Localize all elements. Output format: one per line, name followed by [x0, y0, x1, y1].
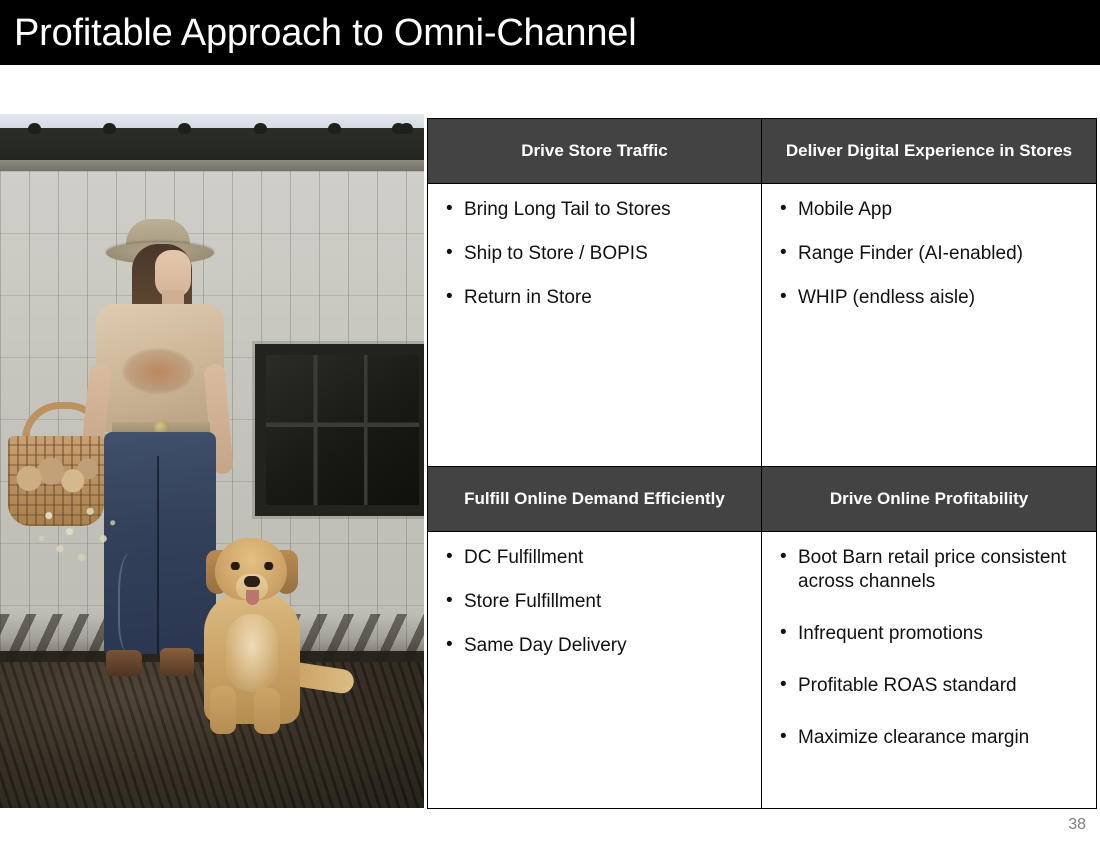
list-item: Same Day Delivery	[442, 634, 749, 658]
photo-dog-chest	[226, 614, 278, 692]
list-item: Ship to Store / BOPIS	[442, 242, 749, 266]
quadrant-header-text: Deliver Digital Experience in Stores	[786, 141, 1072, 162]
photo-dog-nose	[244, 576, 260, 587]
quadrant-body-fulfill-online-demand: DC Fulfillment Store Fulfillment Same Da…	[428, 532, 762, 808]
list-item: Store Fulfillment	[442, 590, 749, 614]
quadrant-header-deliver-digital-experience: Deliver Digital Experience in Stores	[762, 119, 1096, 184]
omni-channel-matrix: Drive Store Traffic Deliver Digital Expe…	[427, 118, 1097, 809]
quadrant-header-text: Drive Store Traffic	[521, 141, 667, 162]
list-item: Range Finder (AI-enabled)	[776, 242, 1084, 266]
quadrant-header-drive-store-traffic: Drive Store Traffic	[428, 119, 762, 184]
slide-photo	[0, 114, 424, 808]
photo-boot-right	[160, 648, 194, 676]
quadrant-header-text: Drive Online Profitability	[830, 489, 1028, 510]
bullet-list: DC Fulfillment Store Fulfillment Same Da…	[442, 546, 749, 658]
quadrant-header-text: Fulfill Online Demand Efficiently	[464, 489, 725, 510]
photo-dog-leg-right	[254, 688, 280, 734]
photo-roof-edge	[0, 128, 424, 162]
slide-title-bar: Profitable Approach to Omni-Channel	[0, 0, 1100, 65]
slide-number: 38	[1068, 816, 1086, 834]
photo-dog-leg-left	[210, 686, 236, 734]
quadrant-body-drive-online-profitability: Boot Barn retail price consistent across…	[762, 532, 1096, 808]
bullet-list: Boot Barn retail price consistent across…	[776, 546, 1084, 750]
photo-boot-left	[106, 650, 142, 676]
list-item: DC Fulfillment	[442, 546, 749, 570]
photo-window	[255, 344, 424, 516]
quadrant-body-deliver-digital-experience: Mobile App Range Finder (AI-enabled) WHI…	[762, 184, 1096, 467]
list-item: Infrequent promotions	[776, 622, 1084, 646]
list-item: Maximize clearance margin	[776, 726, 1084, 750]
photo-basket-contents	[14, 452, 98, 500]
photo-dog-tongue	[246, 590, 259, 605]
quadrant-header-fulfill-online-demand: Fulfill Online Demand Efficiently	[428, 467, 762, 532]
photo-dried-flowers	[30, 494, 124, 566]
list-item: Profitable ROAS standard	[776, 674, 1084, 698]
page-title: Profitable Approach to Omni-Channel	[14, 14, 636, 52]
list-item: Mobile App	[776, 198, 1084, 222]
list-item: Return in Store	[442, 286, 749, 310]
quadrant-body-drive-store-traffic: Bring Long Tail to Stores Ship to Store …	[428, 184, 762, 467]
quadrant-header-drive-online-profitability: Drive Online Profitability	[762, 467, 1096, 532]
list-item: Boot Barn retail price consistent across…	[776, 546, 1084, 594]
list-item: Bring Long Tail to Stores	[442, 198, 749, 222]
bullet-list: Bring Long Tail to Stores Ship to Store …	[442, 198, 749, 310]
photo-dog-eyes	[230, 562, 274, 570]
bullet-list: Mobile App Range Finder (AI-enabled) WHI…	[776, 198, 1084, 310]
list-item: WHIP (endless aisle)	[776, 286, 1084, 310]
